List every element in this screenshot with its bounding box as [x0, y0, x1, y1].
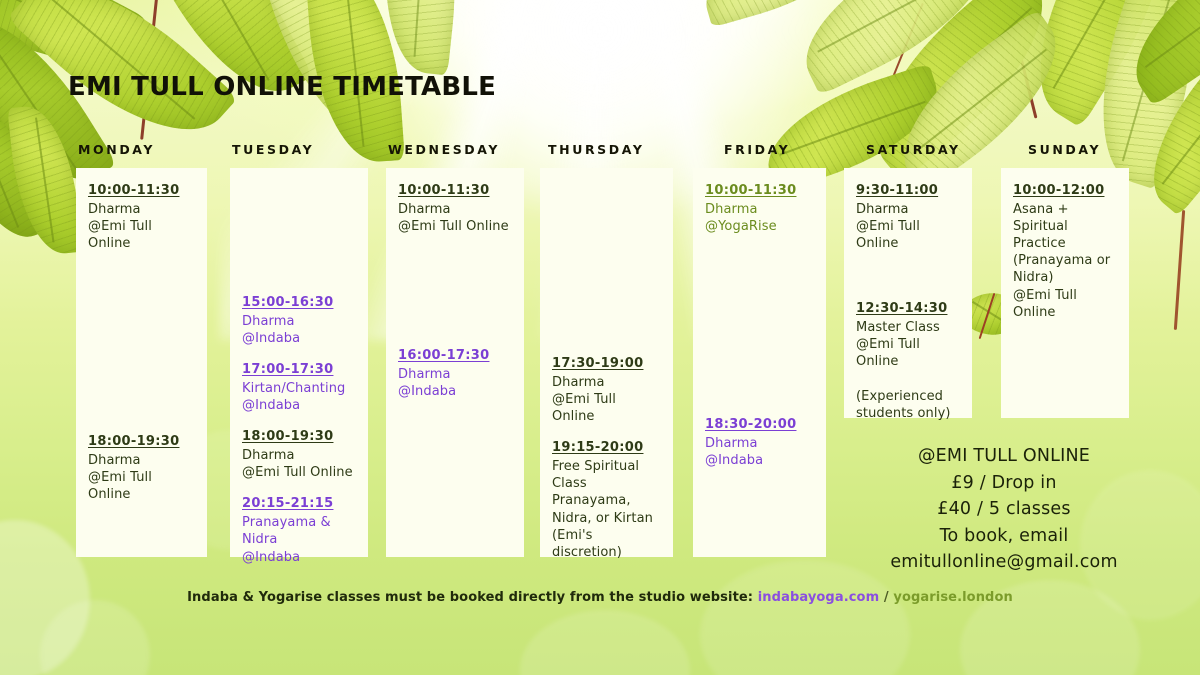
- class-line: Nidra: [242, 531, 356, 548]
- class-time: 10:00-12:00: [1013, 182, 1117, 201]
- class-line: @YogaRise: [705, 218, 814, 235]
- pricing-block: @EMI TULL ONLINE £9 / Drop in £40 / 5 cl…: [848, 443, 1160, 576]
- class-time: 16:00-17:30: [398, 347, 512, 366]
- day-card-wednesday: 10:00-11:30Dharma@Emi Tull Online16:00-1…: [386, 168, 524, 557]
- day-header-saturday: SATURDAY: [866, 142, 961, 157]
- class-slot[interactable]: 12:30-14:30Master Class@Emi Tull Online …: [856, 300, 960, 422]
- class-slot[interactable]: 10:00-12:00Asana +SpiritualPractice(Pran…: [1013, 182, 1117, 321]
- day-card-thursday: 17:30-19:00Dharma@Emi Tull Online19:15-2…: [540, 168, 673, 557]
- class-line: Dharma: [856, 201, 960, 218]
- class-slot[interactable]: 16:00-17:30Dharma@Indaba: [398, 347, 512, 400]
- class-line-spacer: [856, 371, 960, 388]
- class-time: 17:00-17:30: [242, 361, 356, 380]
- class-line: @Emi Tull Online: [856, 218, 960, 252]
- class-line: Dharma: [88, 201, 195, 218]
- class-slot[interactable]: 20:15-21:15Pranayama &Nidra@Indaba: [242, 495, 356, 565]
- class-line: students only): [856, 405, 960, 422]
- class-time: 17:30-19:00: [552, 355, 661, 374]
- class-line: Nidra, or Kirtan: [552, 510, 661, 527]
- class-slot[interactable]: 18:30-20:00Dharma@Indaba: [705, 416, 814, 469]
- class-line: Dharma: [398, 366, 512, 383]
- class-line: Dharma: [705, 435, 814, 452]
- day-header-thursday: THURSDAY: [548, 142, 644, 157]
- class-line: @Emi Tull Online: [552, 391, 661, 425]
- class-line: Dharma: [242, 447, 356, 464]
- pricing-book-label: To book, email: [848, 523, 1160, 550]
- class-slot[interactable]: 10:00-11:30Dharma@Emi Tull Online: [398, 182, 512, 235]
- day-card-tuesday: 15:00-16:30Dharma@Indaba17:00-17:30Kirta…: [230, 168, 368, 557]
- class-line: Asana +: [1013, 201, 1117, 218]
- class-slot[interactable]: 10:00-11:30Dharma@Emi Tull Online: [88, 182, 195, 252]
- class-slot[interactable]: 18:00-19:30Dharma@Emi Tull Online: [242, 428, 356, 481]
- class-line: @Indaba: [242, 330, 356, 347]
- pricing-handle: @EMI TULL ONLINE: [848, 443, 1160, 470]
- page-title: EMI TULL ONLINE TIMETABLE: [68, 72, 496, 102]
- class-time: 20:15-21:15: [242, 495, 356, 514]
- class-slot[interactable]: 10:00-11:30Dharma@YogaRise: [705, 182, 814, 235]
- day-header-wednesday: WEDNESDAY: [388, 142, 500, 157]
- pricing-email[interactable]: emitullonline@gmail.com: [848, 549, 1160, 576]
- class-line: Dharma: [705, 201, 814, 218]
- class-time: 10:00-11:30: [88, 182, 195, 201]
- link-yogarise[interactable]: yogarise.london: [893, 590, 1012, 605]
- day-card-friday: 10:00-11:30Dharma@YogaRise18:30-20:00Dha…: [693, 168, 826, 557]
- class-line: @Emi Tull Online: [88, 218, 195, 252]
- class-line: @Emi Tull Online: [398, 218, 512, 235]
- class-slot[interactable]: 17:00-17:30Kirtan/Chanting@Indaba: [242, 361, 356, 414]
- class-slot[interactable]: 15:00-16:30Dharma@Indaba: [242, 294, 356, 347]
- class-time: 18:00-19:30: [242, 428, 356, 447]
- class-line: Class: [552, 475, 661, 492]
- class-slot[interactable]: 9:30-11:00Dharma@Emi Tull Online: [856, 182, 960, 252]
- class-line: @Emi Tull Online: [242, 464, 356, 481]
- class-time: 10:00-11:30: [705, 182, 814, 201]
- class-line: Dharma: [88, 452, 195, 469]
- class-line: (Experienced: [856, 388, 960, 405]
- class-line: Pranayama &: [242, 514, 356, 531]
- class-line: Practice: [1013, 235, 1117, 252]
- class-slot[interactable]: 17:30-19:00Dharma@Emi Tull Online: [552, 355, 661, 425]
- class-line: Master Class: [856, 319, 960, 336]
- class-time: 9:30-11:00: [856, 182, 960, 201]
- class-line: Pranayama,: [552, 492, 661, 509]
- day-header-tuesday: TUESDAY: [232, 142, 314, 157]
- class-line: @Indaba: [242, 397, 356, 414]
- class-line: (Pranayama or: [1013, 252, 1117, 269]
- class-line: Spiritual: [1013, 218, 1117, 235]
- class-line: @Emi Tull Online: [856, 336, 960, 370]
- day-card-monday: 10:00-11:30Dharma@Emi Tull Online18:00-1…: [76, 168, 207, 557]
- day-card-sunday: 10:00-12:00Asana +SpiritualPractice(Pran…: [1001, 168, 1129, 418]
- class-time: 15:00-16:30: [242, 294, 356, 313]
- class-line: @Indaba: [398, 383, 512, 400]
- day-header-friday: FRIDAY: [724, 142, 790, 157]
- class-time: 10:00-11:30: [398, 182, 512, 201]
- class-line: @Indaba: [242, 549, 356, 566]
- day-header-sunday: SUNDAY: [1028, 142, 1101, 157]
- day-card-saturday: 9:30-11:00Dharma@Emi Tull Online12:30-14…: [844, 168, 972, 418]
- class-line: Nidra): [1013, 269, 1117, 286]
- class-line: Dharma: [552, 374, 661, 391]
- class-slot[interactable]: 19:15-20:00Free SpiritualClassPranayama,…: [552, 439, 661, 561]
- class-line: @Emi Tull Online: [88, 469, 195, 503]
- class-time: 18:30-20:00: [705, 416, 814, 435]
- class-line: Kirtan/Chanting: [242, 380, 356, 397]
- class-line: Dharma: [398, 201, 512, 218]
- class-time: 19:15-20:00: [552, 439, 661, 458]
- pricing-drop-in: £9 / Drop in: [848, 470, 1160, 497]
- class-line: Free Spiritual: [552, 458, 661, 475]
- class-line: @Indaba: [705, 452, 814, 469]
- class-slot[interactable]: 18:00-19:30Dharma@Emi Tull Online: [88, 433, 195, 503]
- link-indabayoga[interactable]: indabayoga.com: [758, 590, 879, 605]
- day-header-monday: MONDAY: [78, 142, 155, 157]
- class-time: 18:00-19:30: [88, 433, 195, 452]
- footer-note: Indaba & Yogarise classes must be booked…: [0, 590, 1200, 605]
- class-line: (Emi's discretion): [552, 527, 661, 561]
- pricing-pack: £40 / 5 classes: [848, 496, 1160, 523]
- footer-separator: /: [884, 590, 889, 605]
- footer-text: Indaba & Yogarise classes must be booked…: [187, 590, 753, 605]
- class-time: 12:30-14:30: [856, 300, 960, 319]
- class-line: @Emi Tull Online: [1013, 287, 1117, 321]
- class-line: Dharma: [242, 313, 356, 330]
